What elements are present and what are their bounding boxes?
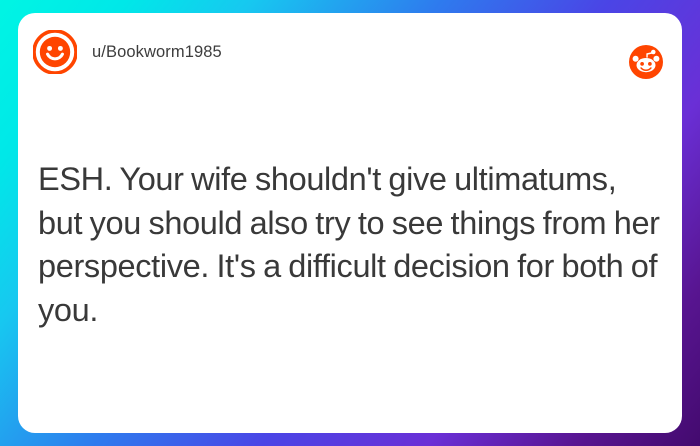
reddit-snoo-icon[interactable]: [629, 45, 663, 79]
screenshot-canvas: u/Bookworm1985 ESH. Your wife shouldn't …: [0, 0, 700, 446]
card-header: u/Bookworm1985: [18, 13, 682, 91]
reddit-quote-card: u/Bookworm1985 ESH. Your wife shouldn't …: [18, 13, 682, 433]
username-label: u/Bookworm1985: [92, 43, 222, 62]
quote-text: ESH. Your wife shouldn't give ultimatums…: [38, 158, 660, 332]
smiley-avatar-icon[interactable]: [33, 30, 77, 74]
